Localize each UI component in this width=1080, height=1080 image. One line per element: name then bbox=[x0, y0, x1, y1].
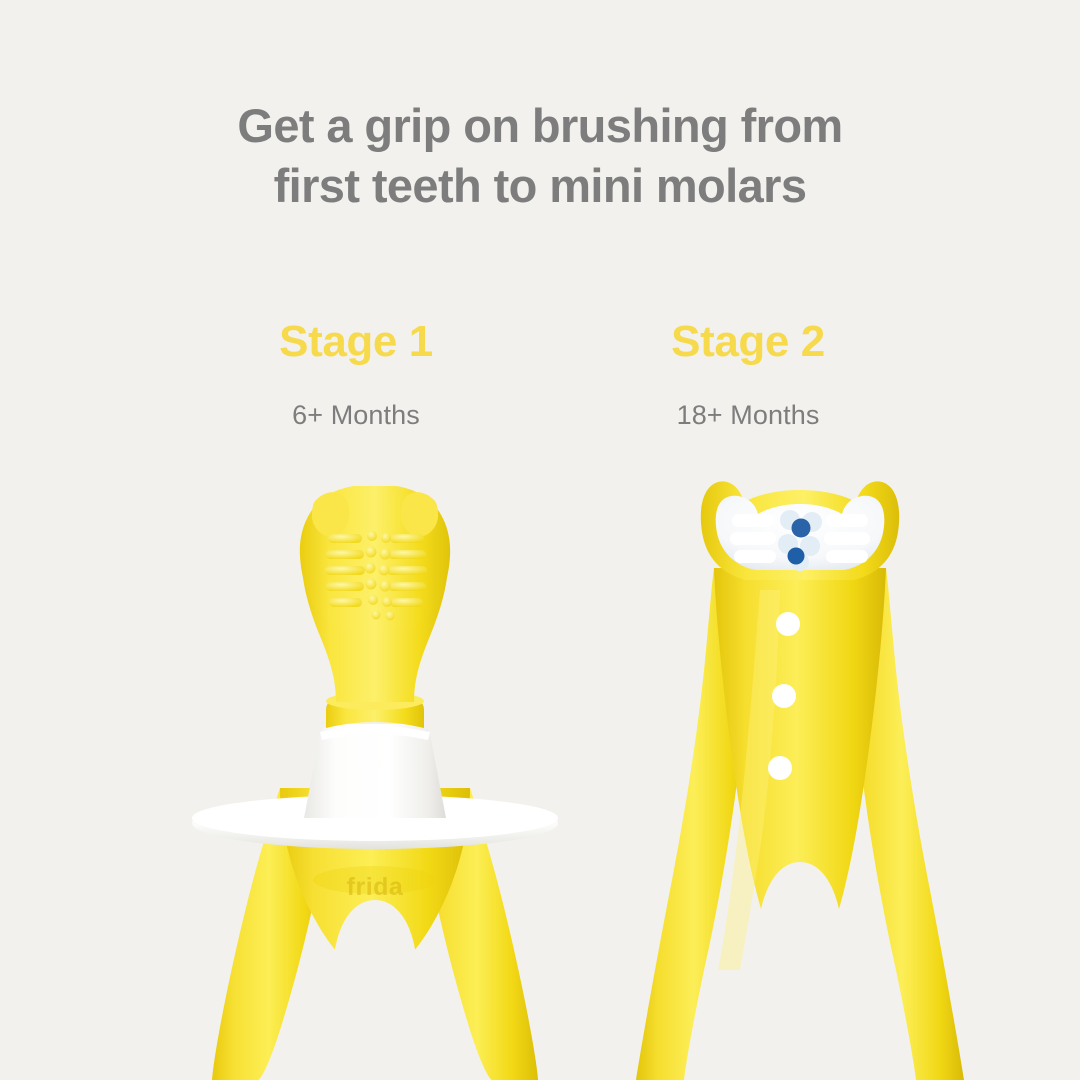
stage-2-age: 18+ Months bbox=[598, 400, 898, 431]
headline-line-2: first teeth to mini molars bbox=[0, 156, 1080, 216]
stage-2-head bbox=[701, 481, 899, 580]
stage-2-product-image bbox=[590, 470, 1010, 1080]
stage-2-title: Stage 2 bbox=[598, 318, 898, 366]
frida-wordmark-embossed bbox=[313, 866, 437, 894]
stage-1-title: Stage 1 bbox=[206, 318, 506, 366]
stage-1-labels: Stage 1 6+ Months bbox=[206, 318, 506, 431]
stage-1-age: 6+ Months bbox=[206, 400, 506, 431]
grip-dot-2 bbox=[772, 684, 796, 708]
grip-dot-1 bbox=[776, 612, 800, 636]
page-title: Get a grip on brushing from first teeth … bbox=[0, 96, 1080, 216]
stage-2-labels: Stage 2 18+ Months bbox=[598, 318, 898, 431]
headline-line-1: Get a grip on brushing from bbox=[0, 96, 1080, 156]
stage-1-head bbox=[300, 486, 450, 702]
stage-2-handle bbox=[636, 568, 964, 1080]
stage-1-product-image: frida bbox=[140, 470, 610, 1080]
safety-shield-collar bbox=[304, 724, 446, 818]
grip-dot-3 bbox=[768, 756, 792, 780]
product-comparison-image: Get a grip on brushing from first teeth … bbox=[0, 0, 1080, 1080]
